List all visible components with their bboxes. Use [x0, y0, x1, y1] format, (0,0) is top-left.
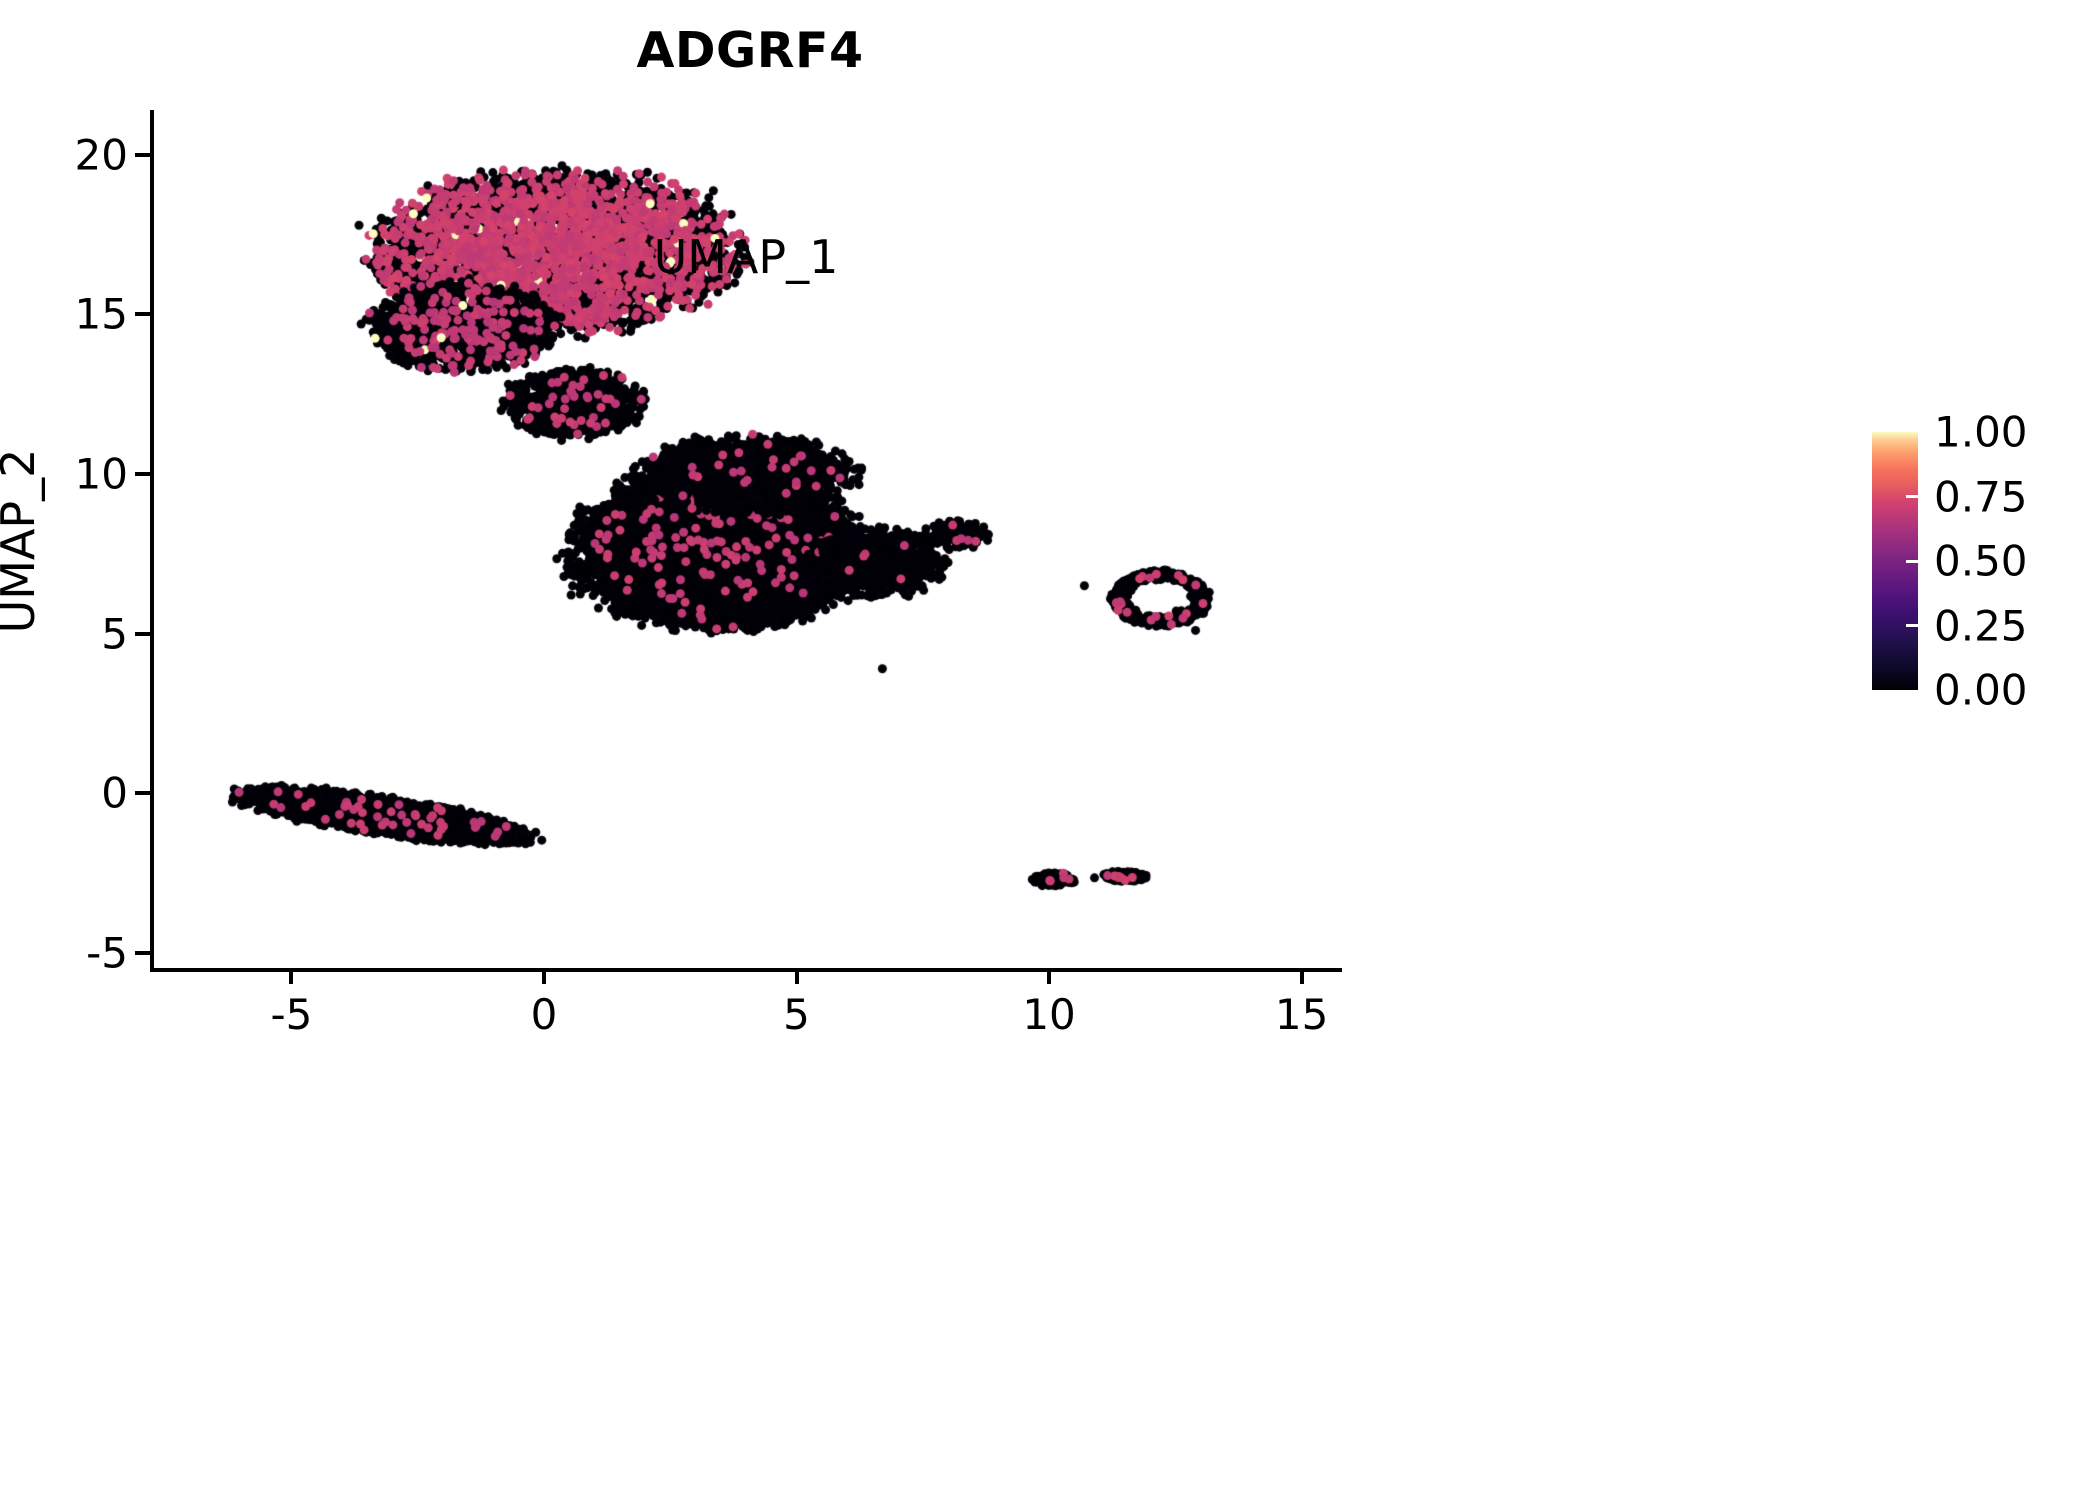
plot-axes: -505101520 -5051015 UMAP_2 UMAP_1	[150, 110, 1342, 972]
x-tick-mark	[542, 968, 546, 984]
x-axis-label: UMAP_1	[654, 230, 839, 284]
y-tick-label: -5	[86, 928, 128, 977]
y-tick-label: 15	[75, 290, 128, 339]
x-tick-label: 15	[1275, 990, 1328, 1039]
y-tick-label: 10	[75, 449, 128, 498]
x-tick-mark	[289, 968, 293, 984]
y-tick-mark	[135, 153, 150, 157]
x-axis-line	[150, 968, 1342, 972]
colorbar-legend: 0.000.250.500.751.00	[1872, 432, 1918, 690]
y-axis-label: UMAP_2	[0, 449, 45, 634]
x-tick-label: 0	[531, 990, 558, 1039]
colorbar-tick-label: 0.00	[1934, 666, 2028, 715]
y-tick-label: 0	[101, 769, 128, 818]
colorbar-tick-mark	[1906, 624, 1918, 627]
umap-feature-plot: ADGRF4 -505101520 -5051015 UMAP_2 UMAP_1…	[0, 0, 2100, 1500]
y-tick-label: 5	[101, 609, 128, 658]
y-tick-mark	[135, 951, 150, 955]
x-tick-label: 10	[1022, 990, 1075, 1039]
colorbar-tick-label: 0.25	[1934, 601, 2028, 650]
x-tick-mark	[1047, 968, 1051, 984]
y-axis-line	[150, 110, 154, 972]
colorbar-tick-label: 1.00	[1934, 408, 2028, 457]
x-tick-mark	[1300, 968, 1304, 984]
colorbar-tick-mark	[1906, 560, 1918, 563]
y-tick-label: 20	[75, 130, 128, 179]
x-tick-label: 5	[783, 990, 810, 1039]
colorbar-tick-label: 0.75	[1934, 472, 2028, 521]
y-tick-mark	[135, 472, 150, 476]
y-tick-mark	[135, 632, 150, 636]
x-tick-label: -5	[270, 990, 312, 1039]
colorbar-tick-mark	[1906, 495, 1918, 498]
colorbar-tick-label: 0.50	[1934, 537, 2028, 586]
y-tick-mark	[135, 312, 150, 316]
x-tick-mark	[795, 968, 799, 984]
colorbar-gradient	[1872, 432, 1918, 690]
y-tick-mark	[135, 791, 150, 795]
page-title: ADGRF4	[0, 22, 1500, 79]
